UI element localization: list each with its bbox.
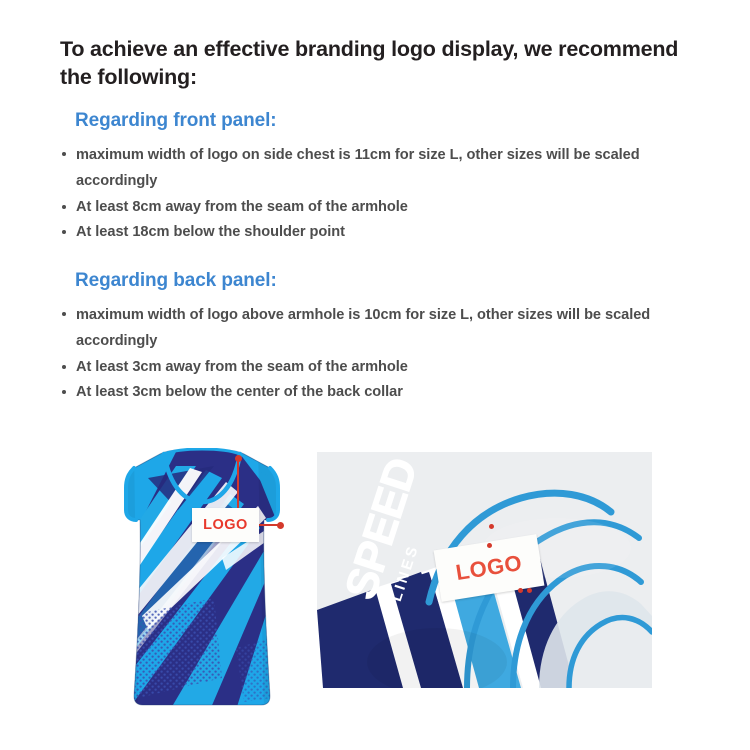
- bullet-list-front-panel: maximum width of logo on side chest is 1…: [60, 143, 710, 246]
- marker-dot-icon: [487, 543, 492, 548]
- section-heading-back-panel: Regarding back panel:: [75, 270, 277, 292]
- list-item-text: maximum width of logo on side chest is 1…: [76, 147, 640, 189]
- list-item: maximum width of logo on side chest is 1…: [60, 143, 710, 194]
- list-item-text: At least 3cm away from the seam of the a…: [76, 359, 408, 375]
- page-title: To achieve an effective branding logo di…: [60, 36, 700, 92]
- bullet-dot-icon: [62, 230, 66, 234]
- list-item-text: At least 18cm below the shoulder point: [76, 224, 345, 240]
- bullet-list-back-panel: maximum width of logo above armhole is 1…: [60, 303, 710, 406]
- bullet-dot-icon: [62, 312, 66, 316]
- marker-dot-icon: [489, 524, 494, 529]
- list-item: At least 3cm away from the seam of the a…: [60, 356, 710, 379]
- list-item: At least 3cm below the center of the bac…: [60, 381, 710, 404]
- armhole-distance-arrow-icon: [258, 524, 280, 526]
- logo-placeholder-front: LOGO: [192, 508, 259, 542]
- marker-dot-icon: [518, 588, 523, 593]
- bullet-dot-icon: [62, 205, 66, 209]
- page-root: To achieve an effective branding logo di…: [0, 0, 750, 750]
- list-item-text: maximum width of logo above armhole is 1…: [76, 307, 650, 349]
- list-item: At least 18cm below the shoulder point: [60, 221, 710, 244]
- shoulder-distance-arrow-icon: [237, 459, 239, 509]
- list-item-text: At least 3cm below the center of the bac…: [76, 384, 403, 400]
- marker-dot-icon: [527, 588, 532, 593]
- bullet-dot-icon: [62, 390, 66, 394]
- singlet-front-illustration: [118, 448, 286, 710]
- list-item: maximum width of logo above armhole is 1…: [60, 303, 710, 354]
- section-heading-front-panel: Regarding front panel:: [75, 110, 277, 132]
- bullet-dot-icon: [62, 365, 66, 369]
- list-item: At least 8cm away from the seam of the a…: [60, 196, 710, 219]
- bullet-dot-icon: [62, 152, 66, 156]
- list-item-text: At least 8cm away from the seam of the a…: [76, 199, 408, 215]
